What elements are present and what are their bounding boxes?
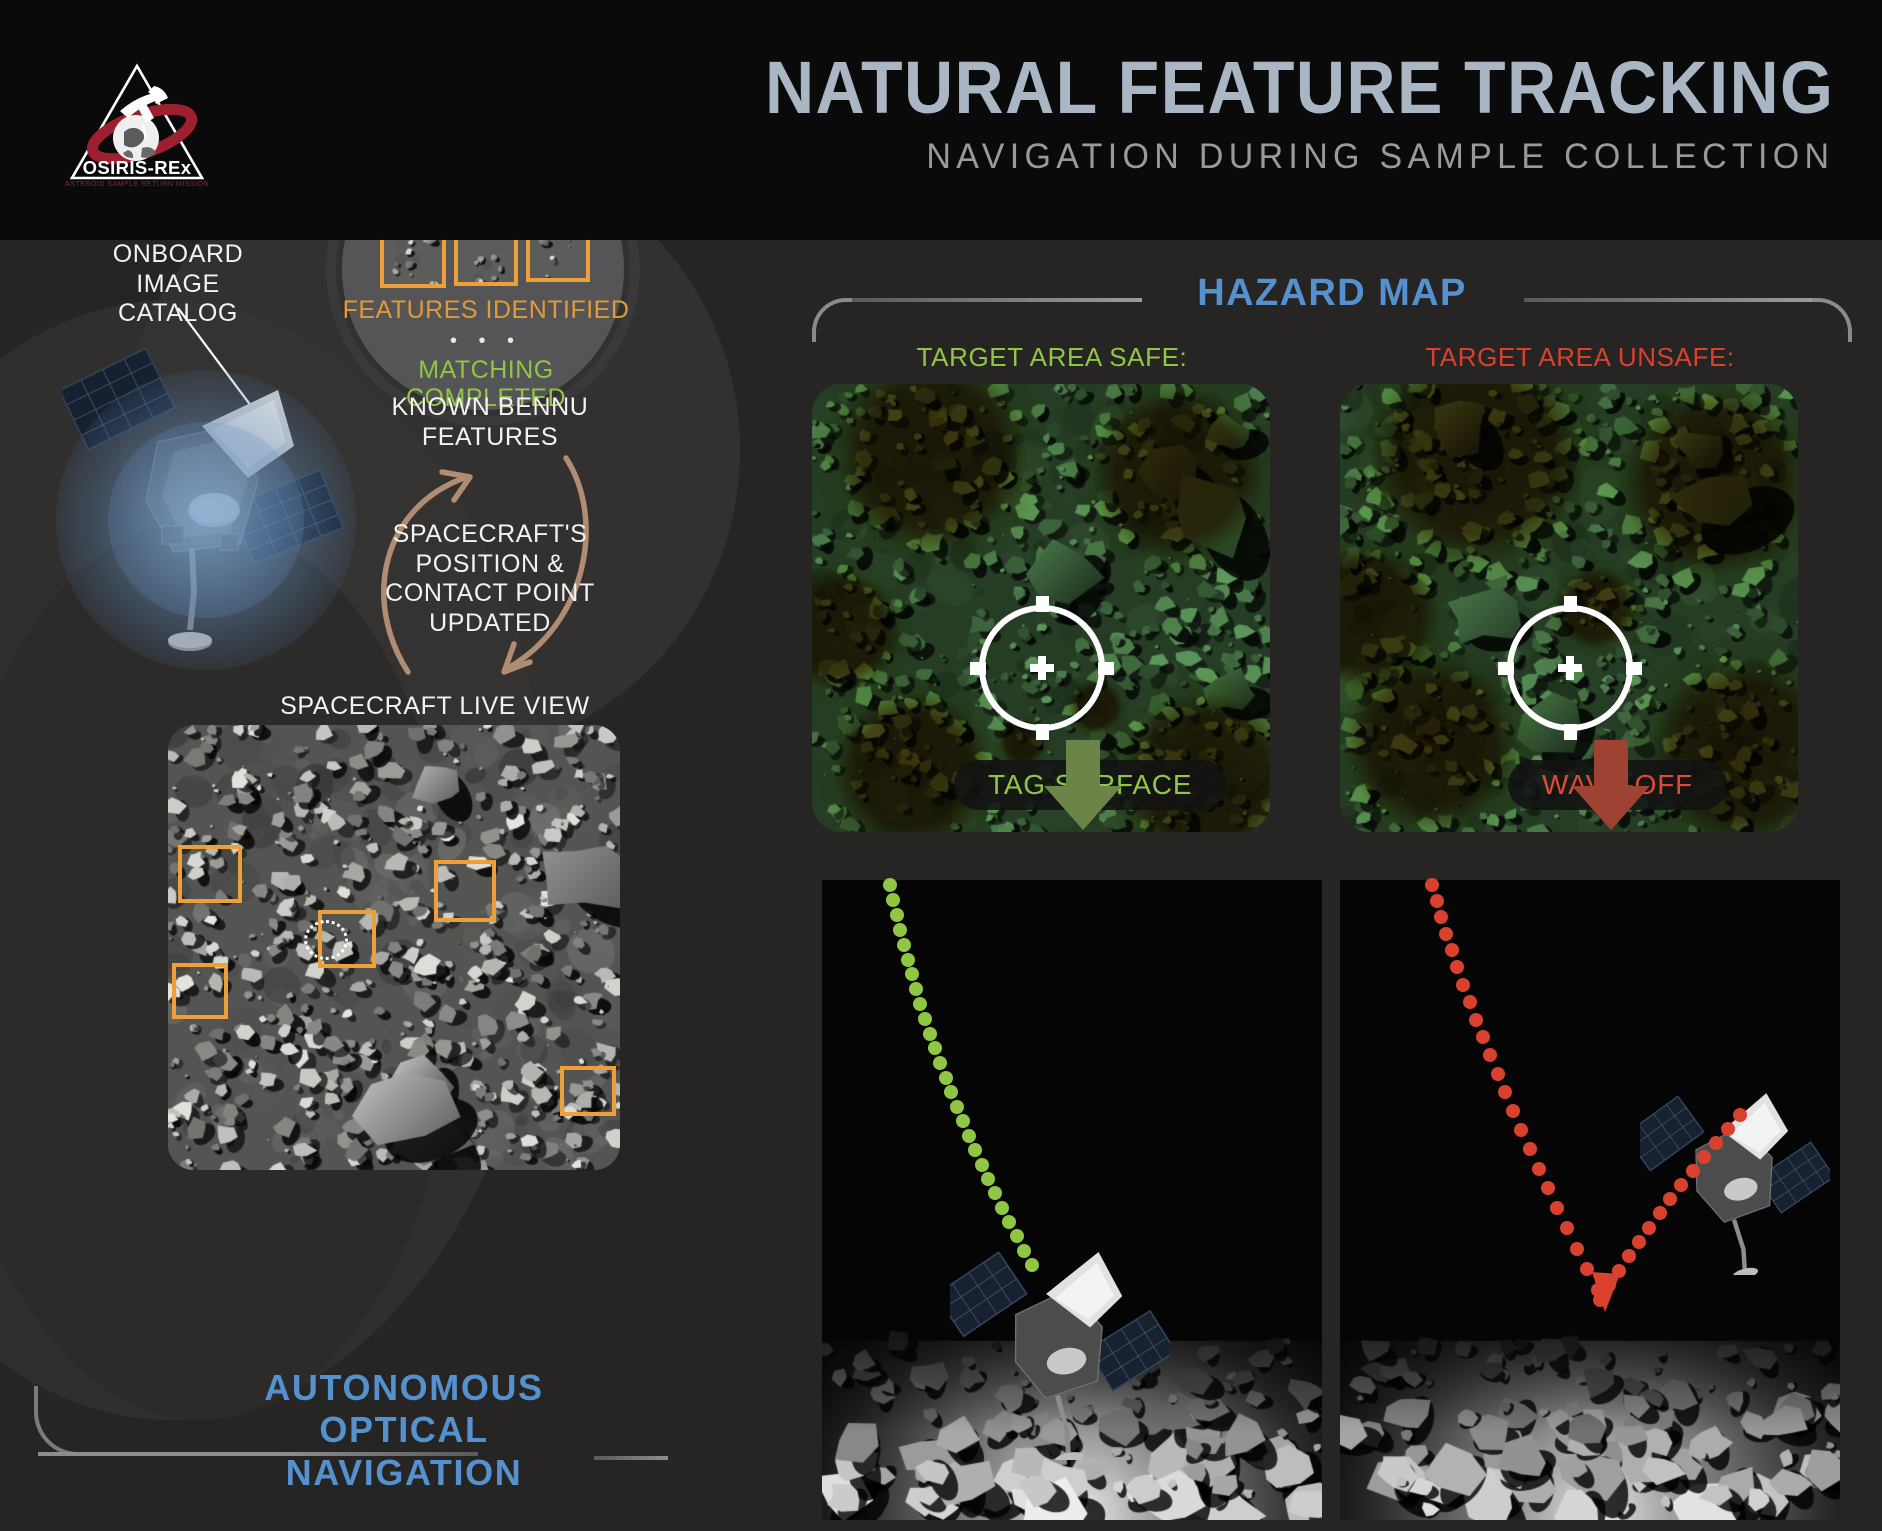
trajectory-dot xyxy=(1697,1150,1711,1164)
wave-off-arrow xyxy=(1568,740,1654,830)
trajectory-dot xyxy=(1469,1013,1483,1027)
matching-line1: MATCHING xyxy=(336,356,636,384)
trajectory-dot xyxy=(1430,894,1444,908)
trajectory-dot xyxy=(1025,1258,1039,1272)
trajectory-dot xyxy=(918,1012,932,1026)
trajectory-dot xyxy=(1017,1244,1031,1258)
trajectory-dot xyxy=(1653,1206,1667,1220)
target-area-safe-label: TARGET AREA SAFE: xyxy=(802,342,1302,373)
cycle-line3: CONTACT POINT xyxy=(375,579,605,609)
trajectory-dot xyxy=(1456,978,1470,992)
live-view-feature-box[interactable] xyxy=(560,1066,616,1116)
trajectory-dot xyxy=(897,938,911,952)
trajectory-dot xyxy=(893,923,907,937)
trajectory-dot xyxy=(950,1100,964,1114)
trajectory-dot xyxy=(995,1201,1009,1215)
spacecraft-position-update-label: SPACECRAFT'S POSITION & CONTACT POINT UP… xyxy=(375,520,605,638)
onboard-label-line2: IMAGE xyxy=(78,270,278,300)
logo-wordmark: OSIRIS-REx xyxy=(83,157,192,178)
header-bar: OSIRIS-REx ASTEROID SAMPLE RETURN MISSIO… xyxy=(0,0,1882,240)
trajectory-dot xyxy=(1632,1235,1646,1249)
cycle-line4: UPDATED xyxy=(375,609,605,639)
spacecraft-live-view-image xyxy=(168,725,620,1170)
osiris-rex-logo: OSIRIS-REx ASTEROID SAMPLE RETURN MISSIO… xyxy=(62,56,212,196)
trajectory-dot xyxy=(923,1027,937,1041)
tag-surface-arrow xyxy=(1040,740,1126,830)
progress-dots: • • • xyxy=(336,330,636,353)
trajectory-dot xyxy=(1642,1221,1656,1235)
targeting-reticle-unsafe xyxy=(1480,578,1660,758)
spacecraft-illustration-left xyxy=(62,330,362,690)
panel-label-autonomous-optical-navigation: AUTONOMOUS OPTICAL NAVIGATION xyxy=(204,1367,604,1494)
targeting-reticle-safe xyxy=(952,578,1132,758)
trajectory-dot xyxy=(1532,1162,1546,1176)
spacecraft-receding-unsafe xyxy=(1640,1075,1830,1275)
known-bennu-features-label: KNOWN BENNU FEATURES xyxy=(330,393,650,452)
panel-label-line1: AUTONOMOUS xyxy=(204,1367,604,1409)
trajectory-dot xyxy=(1733,1108,1747,1122)
trajectory-dot xyxy=(883,878,897,892)
cycle-line2: POSITION & xyxy=(375,550,605,580)
trajectory-dot xyxy=(890,908,904,922)
logo-tagline: ASTEROID SAMPLE RETURN MISSION xyxy=(65,179,209,188)
wave-off-vertex-arrow xyxy=(1586,1272,1626,1316)
trajectory-dot xyxy=(1721,1122,1735,1136)
trajectory-dot xyxy=(933,1056,947,1070)
hazard-rule-right xyxy=(1524,298,1812,302)
live-view-contact-point-marker xyxy=(304,920,348,960)
features-identified-label: FEATURES IDENTIFIED xyxy=(336,296,636,325)
trajectory-dot xyxy=(1491,1067,1505,1081)
spacecraft-live-view-label: SPACECRAFT LIVE VIEW xyxy=(245,692,625,722)
spacecraft-signal-glow-inner xyxy=(108,422,304,618)
page-subtitle: NAVIGATION DURING SAMPLE COLLECTION xyxy=(706,137,1834,177)
infographic-root: OSIRIS-REx ASTEROID SAMPLE RETURN MISSIO… xyxy=(0,0,1882,1531)
trajectory-dot xyxy=(1425,878,1439,892)
trajectory-dot xyxy=(901,953,915,967)
panel-border-tail-right xyxy=(594,1456,668,1460)
trajectory-dot xyxy=(956,1114,970,1128)
cycle-line1: SPACECRAFT'S xyxy=(375,520,605,550)
live-view-feature-box[interactable] xyxy=(178,845,242,903)
trajectory-dot xyxy=(1709,1136,1723,1150)
live-view-feature-box[interactable] xyxy=(434,860,496,922)
spacecraft-descending-safe xyxy=(950,1230,1170,1460)
trajectory-dot xyxy=(1463,995,1477,1009)
target-area-unsafe-label: TARGET AREA UNSAFE: xyxy=(1330,342,1830,373)
trajectory-dot xyxy=(975,1158,989,1172)
trajectory-dot xyxy=(962,1129,976,1143)
header-titles: NATURAL FEATURE TRACKING NAVIGATION DURI… xyxy=(672,52,1834,177)
panel-label-line2: OPTICAL NAVIGATION xyxy=(204,1409,604,1494)
trajectory-dot xyxy=(1686,1164,1700,1178)
onboard-label-line1: ONBOARD xyxy=(78,240,278,270)
live-view-feature-box[interactable] xyxy=(172,963,228,1019)
trajectory-dot xyxy=(1570,1242,1584,1256)
trajectory-dot xyxy=(939,1071,953,1085)
hazard-map-title: HAZARD MAP xyxy=(812,272,1852,315)
page-title: NATURAL FEATURE TRACKING xyxy=(765,52,1834,125)
